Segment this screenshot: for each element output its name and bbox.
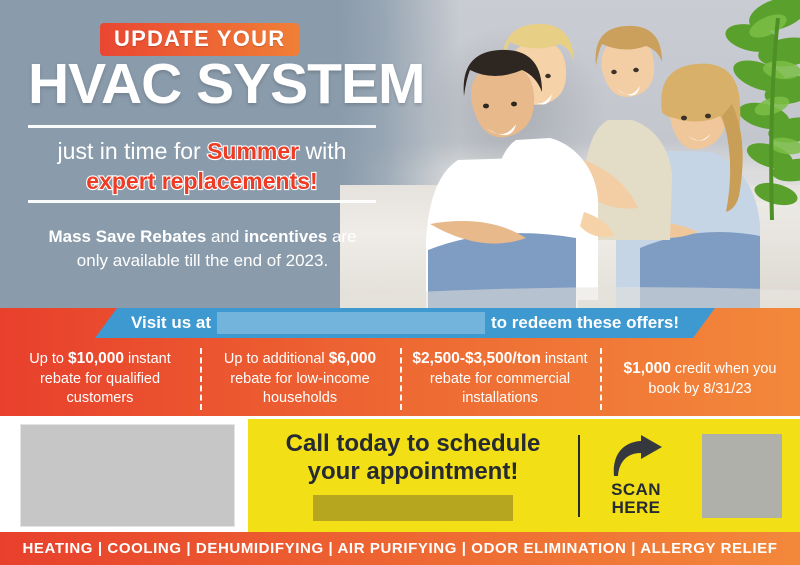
list-item: $2,500-$3,500/ton instant rebate for com…: [400, 342, 600, 416]
page-title: HVAC SYSTEM: [28, 58, 378, 110]
offers-section: Visit us at to redeem these offers! Up t…: [0, 308, 800, 416]
website-url-redacted[interactable]: [217, 312, 485, 334]
scan-line-1: SCAN: [611, 480, 661, 499]
cta-headline-line1: Call today to schedule: [286, 430, 541, 457]
offer-amount: $10,000: [68, 350, 124, 367]
cta-text-block: Call today to schedule your appointment!: [248, 419, 578, 532]
hero-blurb: Mass Save Rebates and incentives are onl…: [45, 225, 360, 273]
services-list: HEATING | COOLING | DEHUMIDIFYING | AIR …: [22, 540, 777, 557]
visit-tail-label: to redeem these offers!: [485, 313, 685, 333]
appointment-cta: Call today to schedule your appointment!…: [248, 419, 800, 532]
hero-section: UPDATE YOUR HVAC SYSTEM just in time for…: [0, 0, 800, 308]
offer-pre: Up to additional: [224, 351, 329, 367]
blurb-bold-rebates: Mass Save Rebates: [48, 227, 206, 246]
list-item: $1,000 credit when you book by 8/31/23: [600, 342, 800, 416]
list-item: Up to $10,000 instant rebate for qualifi…: [0, 342, 200, 416]
cta-headline-line2: your appointment!: [308, 458, 519, 485]
subhead-highlight-expert: expert replacements!: [22, 166, 382, 196]
offer-amount: $2,500-$3,500/ton: [412, 350, 540, 367]
offer-amount: $6,000: [329, 350, 376, 367]
hero-copy: UPDATE YOUR HVAC SYSTEM just in time for…: [0, 0, 400, 308]
visit-label: Visit us at: [125, 313, 217, 333]
qr-code-placeholder[interactable]: [702, 434, 782, 518]
curved-arrow-right-icon: [608, 434, 664, 478]
offer-list: Up to $10,000 instant rebate for qualifi…: [0, 342, 800, 416]
offer-post: rebate for low-income households: [230, 371, 369, 406]
hvac-promo-flyer: UPDATE YOUR HVAC SYSTEM just in time for…: [0, 0, 800, 565]
blurb-mid: and: [206, 227, 244, 246]
scan-here-block: SCAN HERE: [580, 419, 692, 532]
subhead-pre: just in time for: [58, 138, 208, 164]
cta-section: Call today to schedule your appointment!…: [0, 419, 800, 532]
phone-number-redacted[interactable]: [313, 495, 513, 521]
scan-line-2: HERE: [612, 498, 661, 517]
hero-subheadline: just in time for Summer with expert repl…: [22, 136, 382, 197]
blurb-bold-incentives: incentives: [244, 227, 327, 246]
company-logo-placeholder: [20, 424, 235, 527]
services-footer: HEATING | COOLING | DEHUMIDIFYING | AIR …: [0, 532, 800, 565]
scan-here-label: SCAN HERE: [611, 481, 661, 518]
divider-top: [28, 125, 376, 128]
visit-us-ribbon: Visit us at to redeem these offers!: [95, 308, 715, 338]
family-figures: [340, 0, 800, 308]
cta-headline: Call today to schedule your appointment!: [286, 430, 541, 487]
subhead-highlight-summer: Summer: [207, 138, 299, 164]
family-photo: [340, 0, 800, 308]
list-item: Up to additional $6,000 rebate for low-i…: [200, 342, 400, 416]
subhead-post: with: [299, 138, 346, 164]
offer-pre: Up to: [29, 351, 68, 367]
divider-bottom: [28, 200, 376, 203]
offer-amount: $1,000: [623, 360, 670, 377]
